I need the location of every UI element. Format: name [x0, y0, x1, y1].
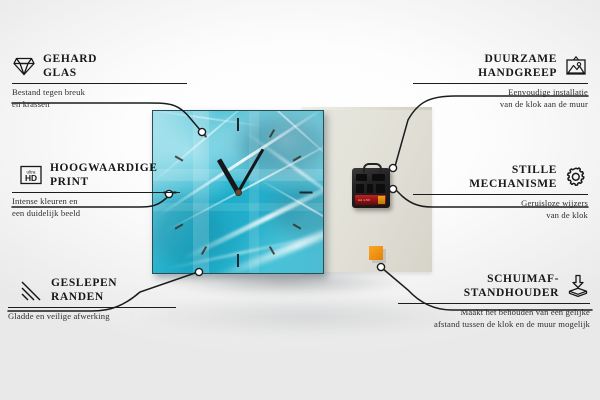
callout-desc-line1: Bestand tegen breuk — [12, 87, 187, 99]
callout-title-line1: GEHARD — [43, 52, 97, 66]
callout-title-line2: GLAS — [43, 66, 97, 80]
diamond-icon — [12, 54, 36, 78]
callout-desc-line2: afstand tussen de klok en de muur mogeli… — [398, 319, 590, 331]
callout-desc-line2: en krassen — [12, 99, 187, 111]
clock-tick — [237, 254, 239, 267]
callout-rule — [12, 192, 180, 193]
beveled-edges-icon — [20, 278, 44, 302]
battery: AA 1.5V — [355, 195, 386, 205]
callout-title-line1: DUURZAME — [478, 52, 557, 66]
callout-duurzame-handgreep: DUURZAME HANDGREEP Eenvoudige installati… — [413, 52, 588, 110]
battery-positive-terminal — [378, 196, 385, 204]
battery-label: AA 1.5V — [358, 198, 370, 202]
movement-detail — [372, 174, 385, 181]
callout-header: GESLEPEN RANDEN — [20, 276, 185, 304]
clock-center-pin — [235, 189, 242, 196]
callout-header: ultra HD HOOGWAARDIGE PRINT — [19, 161, 187, 189]
spacer-stack-icon — [566, 274, 590, 298]
callout-desc-line1: Eenvoudige installatie — [413, 87, 588, 99]
movement-detail — [356, 174, 367, 181]
callout-rule — [413, 83, 588, 84]
callout-stille-mechanisme: STILLE MECHANISME Geruisloze wijzers van… — [413, 163, 588, 221]
callout-rule — [398, 303, 590, 304]
callout-header: DUURZAME HANDGREEP — [413, 52, 588, 80]
callout-hoogwaardige-print: ultra HD HOOGWAARDIGE PRINT Intense kleu… — [19, 161, 187, 219]
callout-rule — [8, 307, 176, 308]
movement-detail — [367, 184, 373, 193]
callout-schuimaf-standhouder: SCHUIMAF- STANDHOUDER Maakt het behouden… — [398, 272, 590, 330]
clock-tick — [300, 191, 313, 193]
callout-desc-line2: van de klok aan de muur — [413, 99, 588, 111]
callout-title-line1: HOOGWAARDIGE — [50, 161, 158, 175]
callout-desc-line1: Maakt het behouden van een gelijke — [398, 307, 590, 319]
callout-desc-line1: Geruisloze wijzers — [413, 198, 588, 210]
callout-header: STILLE MECHANISME — [413, 163, 588, 191]
callout-header: SCHUIMAF- STANDHOUDER — [398, 272, 590, 300]
callout-title-line1: SCHUIMAF- — [464, 272, 559, 286]
callout-geslepen-randen: GESLEPEN RANDEN Gladde en veilige afwerk… — [20, 276, 185, 323]
callout-title-line2: MECHANISME — [469, 177, 557, 191]
gear-icon — [564, 165, 588, 189]
callout-desc-line1: Gladde en veilige afwerking — [8, 311, 185, 323]
picture-frame-icon — [564, 54, 588, 78]
callout-title-line1: GESLEPEN — [51, 276, 117, 290]
callout-rule — [12, 83, 187, 84]
callout-desc-line2: van de klok — [413, 210, 588, 222]
movement-hanger-hook — [363, 163, 382, 173]
callout-title-line2: STANDHOUDER — [464, 286, 559, 300]
callout-title-line2: RANDEN — [51, 290, 117, 304]
movement-detail — [376, 184, 385, 193]
callout-gehard-glas: GEHARD GLAS Bestand tegen breuk en krass… — [12, 52, 187, 110]
clock-tick — [237, 118, 239, 131]
callout-title-line2: HANDGREEP — [478, 66, 557, 80]
ultra-hd-icon: ultra HD — [19, 163, 43, 187]
infographic-canvas: AA 1.5V — [0, 0, 600, 400]
svg-text:HD: HD — [25, 173, 37, 183]
callout-desc-line1: Intense kleuren en — [12, 196, 187, 208]
clock-movement-mechanism: AA 1.5V — [352, 168, 390, 208]
movement-detail — [356, 184, 364, 193]
callout-desc-line2: een duidelijk beeld — [12, 208, 187, 220]
callout-title-line2: PRINT — [50, 175, 158, 189]
foam-spacer-standoff — [369, 246, 383, 260]
callout-title-line1: STILLE — [469, 163, 557, 177]
callout-rule — [413, 194, 588, 195]
callout-header: GEHARD GLAS — [12, 52, 187, 80]
